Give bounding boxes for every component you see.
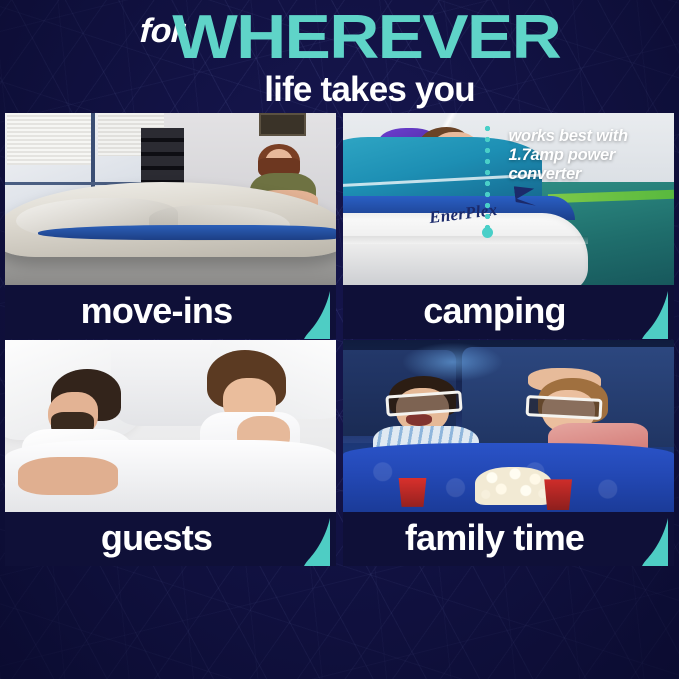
callout-line-2: 1.7amp power [509,146,675,165]
photo-guests [5,340,336,512]
poster-header: forWHEREVER life takes you [0,0,679,113]
boy-mouth-icon [406,414,432,426]
product-lifestyle-poster: forWHEREVER life takes you [0,0,679,679]
mattress-blue-edge-left [38,225,336,240]
callout-line-3: converter [509,165,675,184]
headline-secondary: life takes you [0,72,679,107]
teal-fin-accent-icon [642,291,668,339]
caption-label-guests: guests [101,520,212,556]
photo-move-ins [5,113,336,285]
callout-dot-endpoint-icon [482,227,493,238]
picture-frame-icon [259,113,306,136]
caption-bar-move-ins: move-ins [5,285,336,339]
mattress-side-band [343,236,588,244]
photo-camping: EnerPlex works best with 1.7amp power co… [343,113,674,285]
use-case-cell-family-time: family time [343,340,674,566]
popcorn-bowl-icon [475,467,551,505]
caption-bar-camping: camping [343,285,674,339]
use-case-grid: move-ins [5,113,674,675]
teal-fin-accent-icon [304,518,330,566]
caption-label-family-time: family time [405,520,584,556]
use-case-cell-camping: EnerPlex works best with 1.7amp power co… [343,113,674,339]
teal-fin-accent-icon [304,291,330,339]
caption-label-move-ins: move-ins [81,293,233,329]
use-case-cell-guests: guests [5,340,336,566]
man-arm-icon [18,457,117,495]
caption-label-camping: camping [423,293,565,329]
callout-dotted-line-icon [485,123,490,230]
headline-word-wherever: WHEREVER [172,7,560,69]
girl-3d-glasses-icon [525,395,602,420]
teal-fin-accent-icon [642,518,668,566]
callout-line-1: works best with [509,127,675,146]
caption-bar-guests: guests [5,512,336,566]
window-blind-icon [7,113,93,165]
caption-bar-family-time: family time [343,512,674,566]
callout-text-block: works best with 1.7amp power converter [509,127,675,185]
photo-family-time [343,340,674,512]
headline-primary: forWHEREVER [0,7,679,69]
use-case-cell-move-ins: move-ins [5,113,336,339]
